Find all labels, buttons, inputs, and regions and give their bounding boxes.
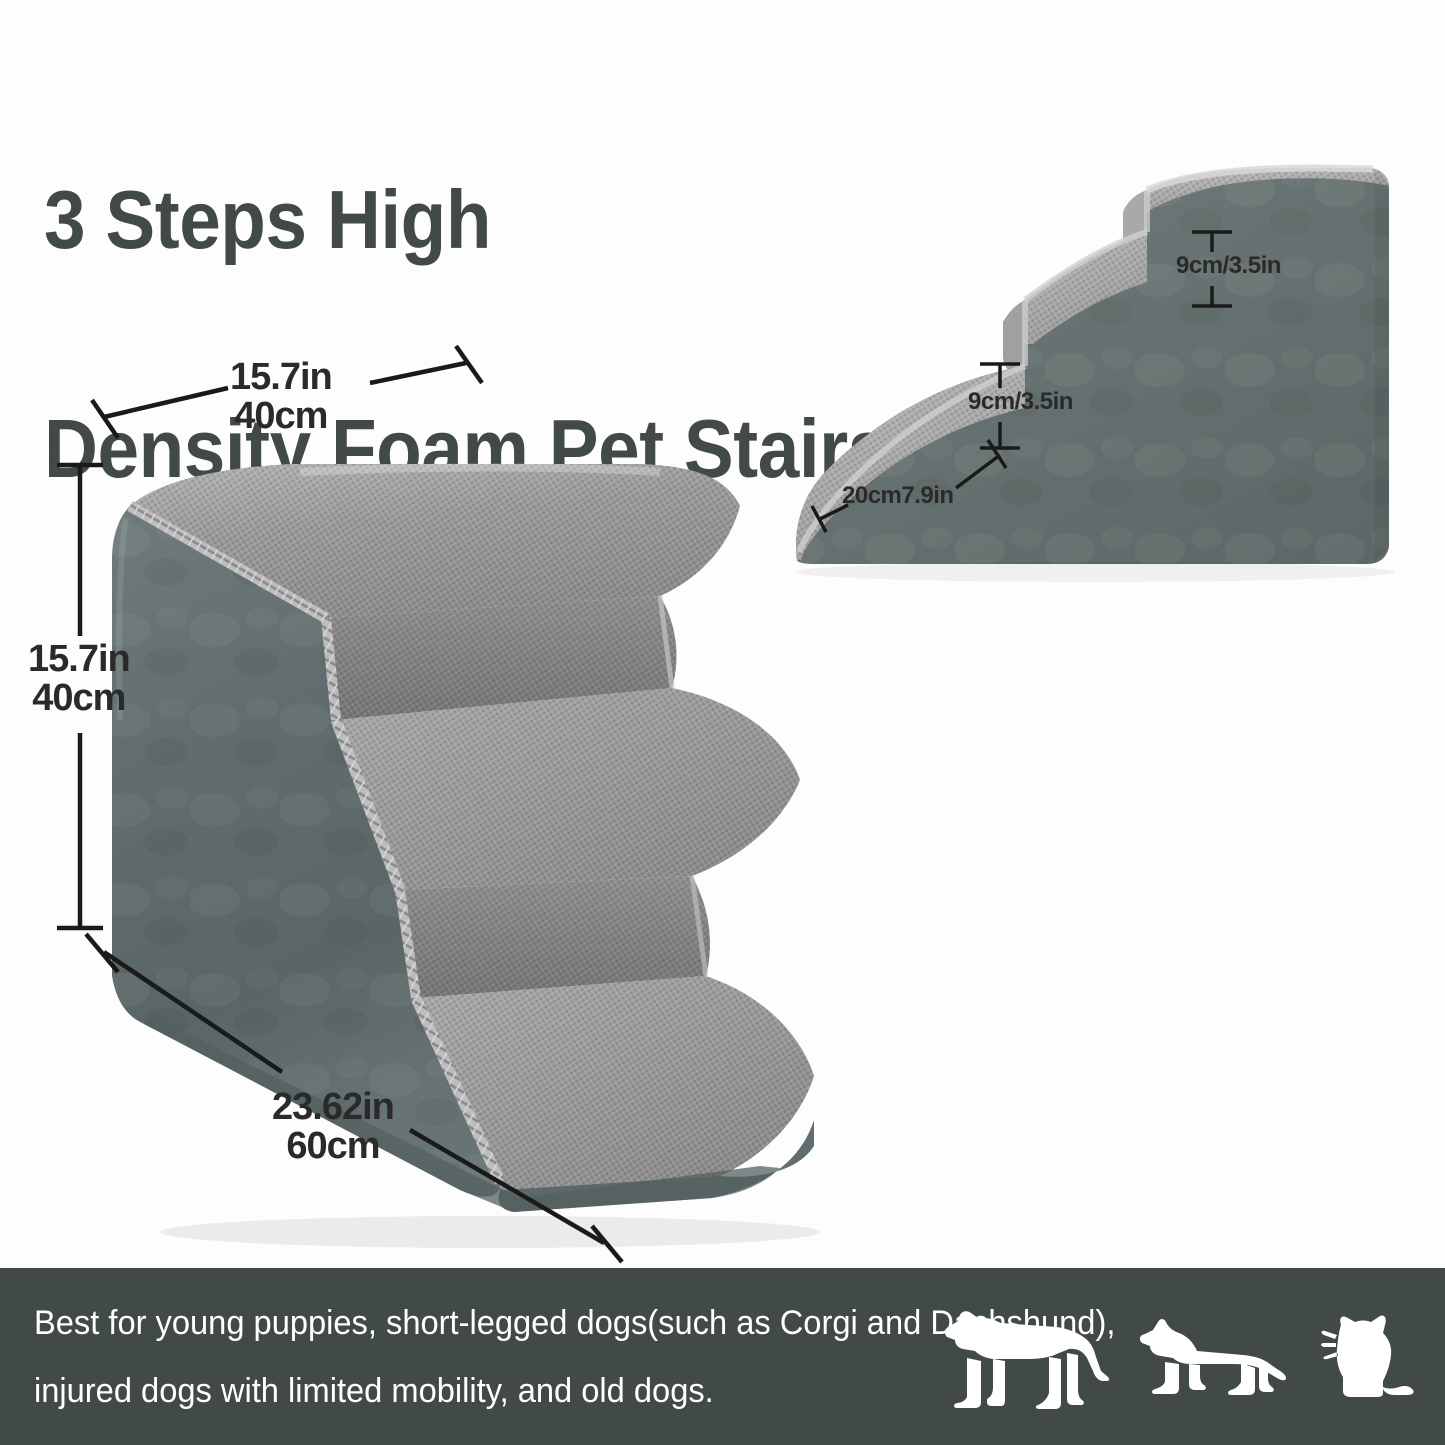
dimension-left-imperial: 15.7in — [28, 640, 130, 679]
dimension-left-metric: 40cm — [28, 679, 130, 718]
main-product-svg — [100, 420, 840, 1250]
step-2-texture — [336, 688, 800, 890]
dimension-bottom-imperial: 23.62in — [272, 1088, 394, 1127]
footer-caption-line-2: injured dogs with limited mobility, and … — [34, 1357, 927, 1425]
pet-silhouettes-group — [941, 1268, 1417, 1445]
dimension-label-left: 15.7in 40cm — [28, 640, 130, 718]
main-product-image — [100, 420, 840, 1250]
inset-dimension-label-top-step: 9cm/3.5in — [1176, 254, 1281, 278]
top-highlight — [300, 468, 660, 473]
inset-product-image — [775, 160, 1405, 590]
footer-caption: Best for young puppies, short-legged dog… — [34, 1289, 927, 1425]
footer-bar: Best for young puppies, short-legged dog… — [0, 1268, 1445, 1445]
inset-dimension-label-bottom-step: 20cm7.9in — [842, 484, 954, 508]
dimension-label-top: 15.7in 40cm — [230, 358, 332, 436]
cat-silhouette-icon — [1313, 1311, 1417, 1403]
inset-product-svg — [775, 160, 1405, 590]
inset-dimension-label-middle-step: 9cm/3.5in — [968, 390, 1073, 414]
dimension-bottom-metric: 60cm — [272, 1127, 394, 1166]
dimension-top-metric: 40cm — [230, 397, 332, 436]
dachshund-silhouette-icon — [1137, 1316, 1287, 1398]
inset-back-edge — [1375, 170, 1389, 560]
infographic-canvas: 3 Steps High Density Foam Pet Stairs — [0, 0, 1445, 1445]
dimension-label-bottom: 23.62in 60cm — [272, 1088, 394, 1166]
dimension-top-imperial: 15.7in — [230, 358, 332, 397]
footer-caption-line-1: Best for young puppies, short-legged dog… — [34, 1289, 927, 1357]
large-dog-silhouette-icon — [941, 1301, 1111, 1413]
inset-shadow — [795, 562, 1395, 582]
